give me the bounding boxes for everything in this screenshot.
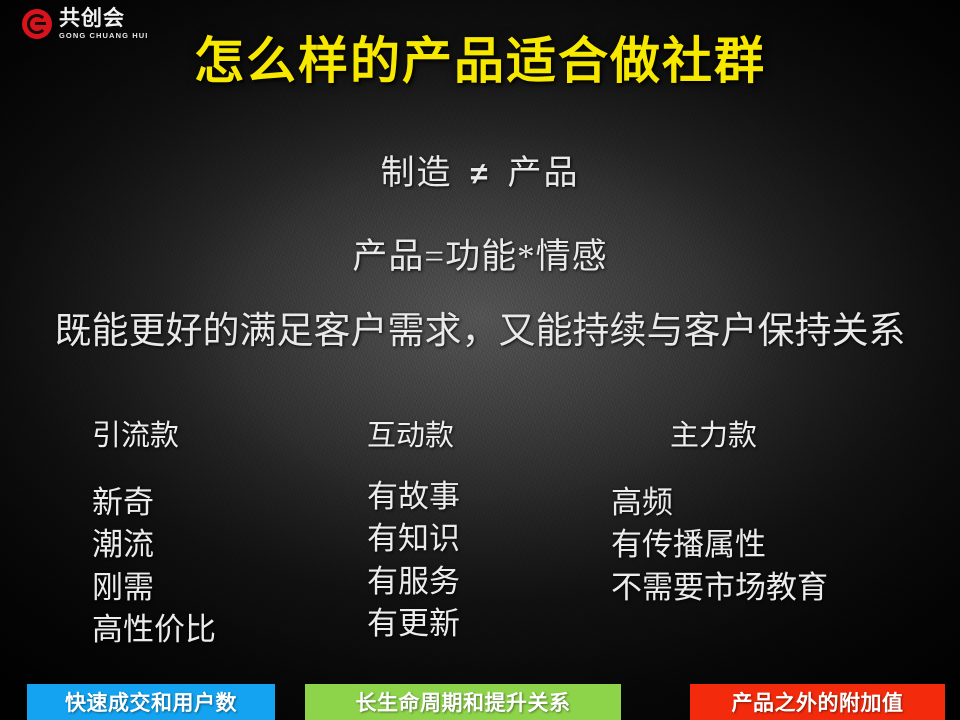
column-heading: 主力款 — [670, 412, 960, 454]
list-item: 刚需 — [92, 567, 300, 609]
equation-right: 产品 — [508, 155, 580, 192]
list-item: 有故事 — [367, 476, 600, 518]
equation-left: 制造 — [380, 155, 452, 192]
list-item: 潮流 — [92, 524, 300, 566]
column-item-list: 新奇 潮流 刚需 高性价比 — [92, 482, 300, 652]
column-heading: 引流款 — [92, 412, 300, 454]
bottom-summary-bars: 快速成交和用户数 长生命周期和提升关系 产品之外的附加值 — [0, 684, 960, 720]
summary-bar-main: 产品之外的附加值 — [690, 684, 945, 720]
summary-bar-interaction: 长生命周期和提升关系 — [305, 684, 621, 720]
list-item: 不需要市场教育 — [611, 567, 960, 609]
column-heading: 互动款 — [367, 412, 600, 454]
list-item: 高频 — [611, 482, 960, 524]
list-item: 有更新 — [367, 603, 600, 645]
column-item-list: 有故事 有知识 有服务 有更新 — [367, 476, 600, 646]
presentation-slide: 共创会 GONG CHUANG HUI 怎么样的产品适合做社群 制造≠产品 产品… — [0, 0, 960, 720]
list-item: 有传播属性 — [611, 524, 960, 566]
column-main-product: 主力款 高频 有传播属性 不需要市场教育 — [600, 412, 960, 652]
brand-name-cn: 共创会 — [59, 8, 148, 29]
equation-line: 制造≠产品 — [0, 145, 960, 194]
list-item: 有知识 — [367, 518, 600, 560]
list-item: 高性价比 — [92, 609, 300, 651]
column-traffic-product: 引流款 新奇 潮流 刚需 高性价比 — [0, 412, 300, 652]
page-title: 怎么样的产品适合做社群 — [0, 34, 960, 89]
summary-bar-traffic: 快速成交和用户数 — [27, 684, 275, 720]
not-equal-icon: ≠ — [470, 156, 489, 191]
product-type-columns: 引流款 新奇 潮流 刚需 高性价比 互动款 有故事 有知识 有服务 有更新 主力… — [0, 412, 960, 652]
column-item-list: 高频 有传播属性 不需要市场教育 — [611, 482, 960, 609]
list-item: 新奇 — [92, 482, 300, 524]
formula-line: 产品=功能*情感 — [0, 228, 960, 279]
list-item: 有服务 — [367, 561, 600, 603]
column-interaction-product: 互动款 有故事 有知识 有服务 有更新 — [300, 412, 600, 652]
description-line: 既能更好的满足客户需求，又能持续与客户保持关系 — [0, 300, 960, 354]
